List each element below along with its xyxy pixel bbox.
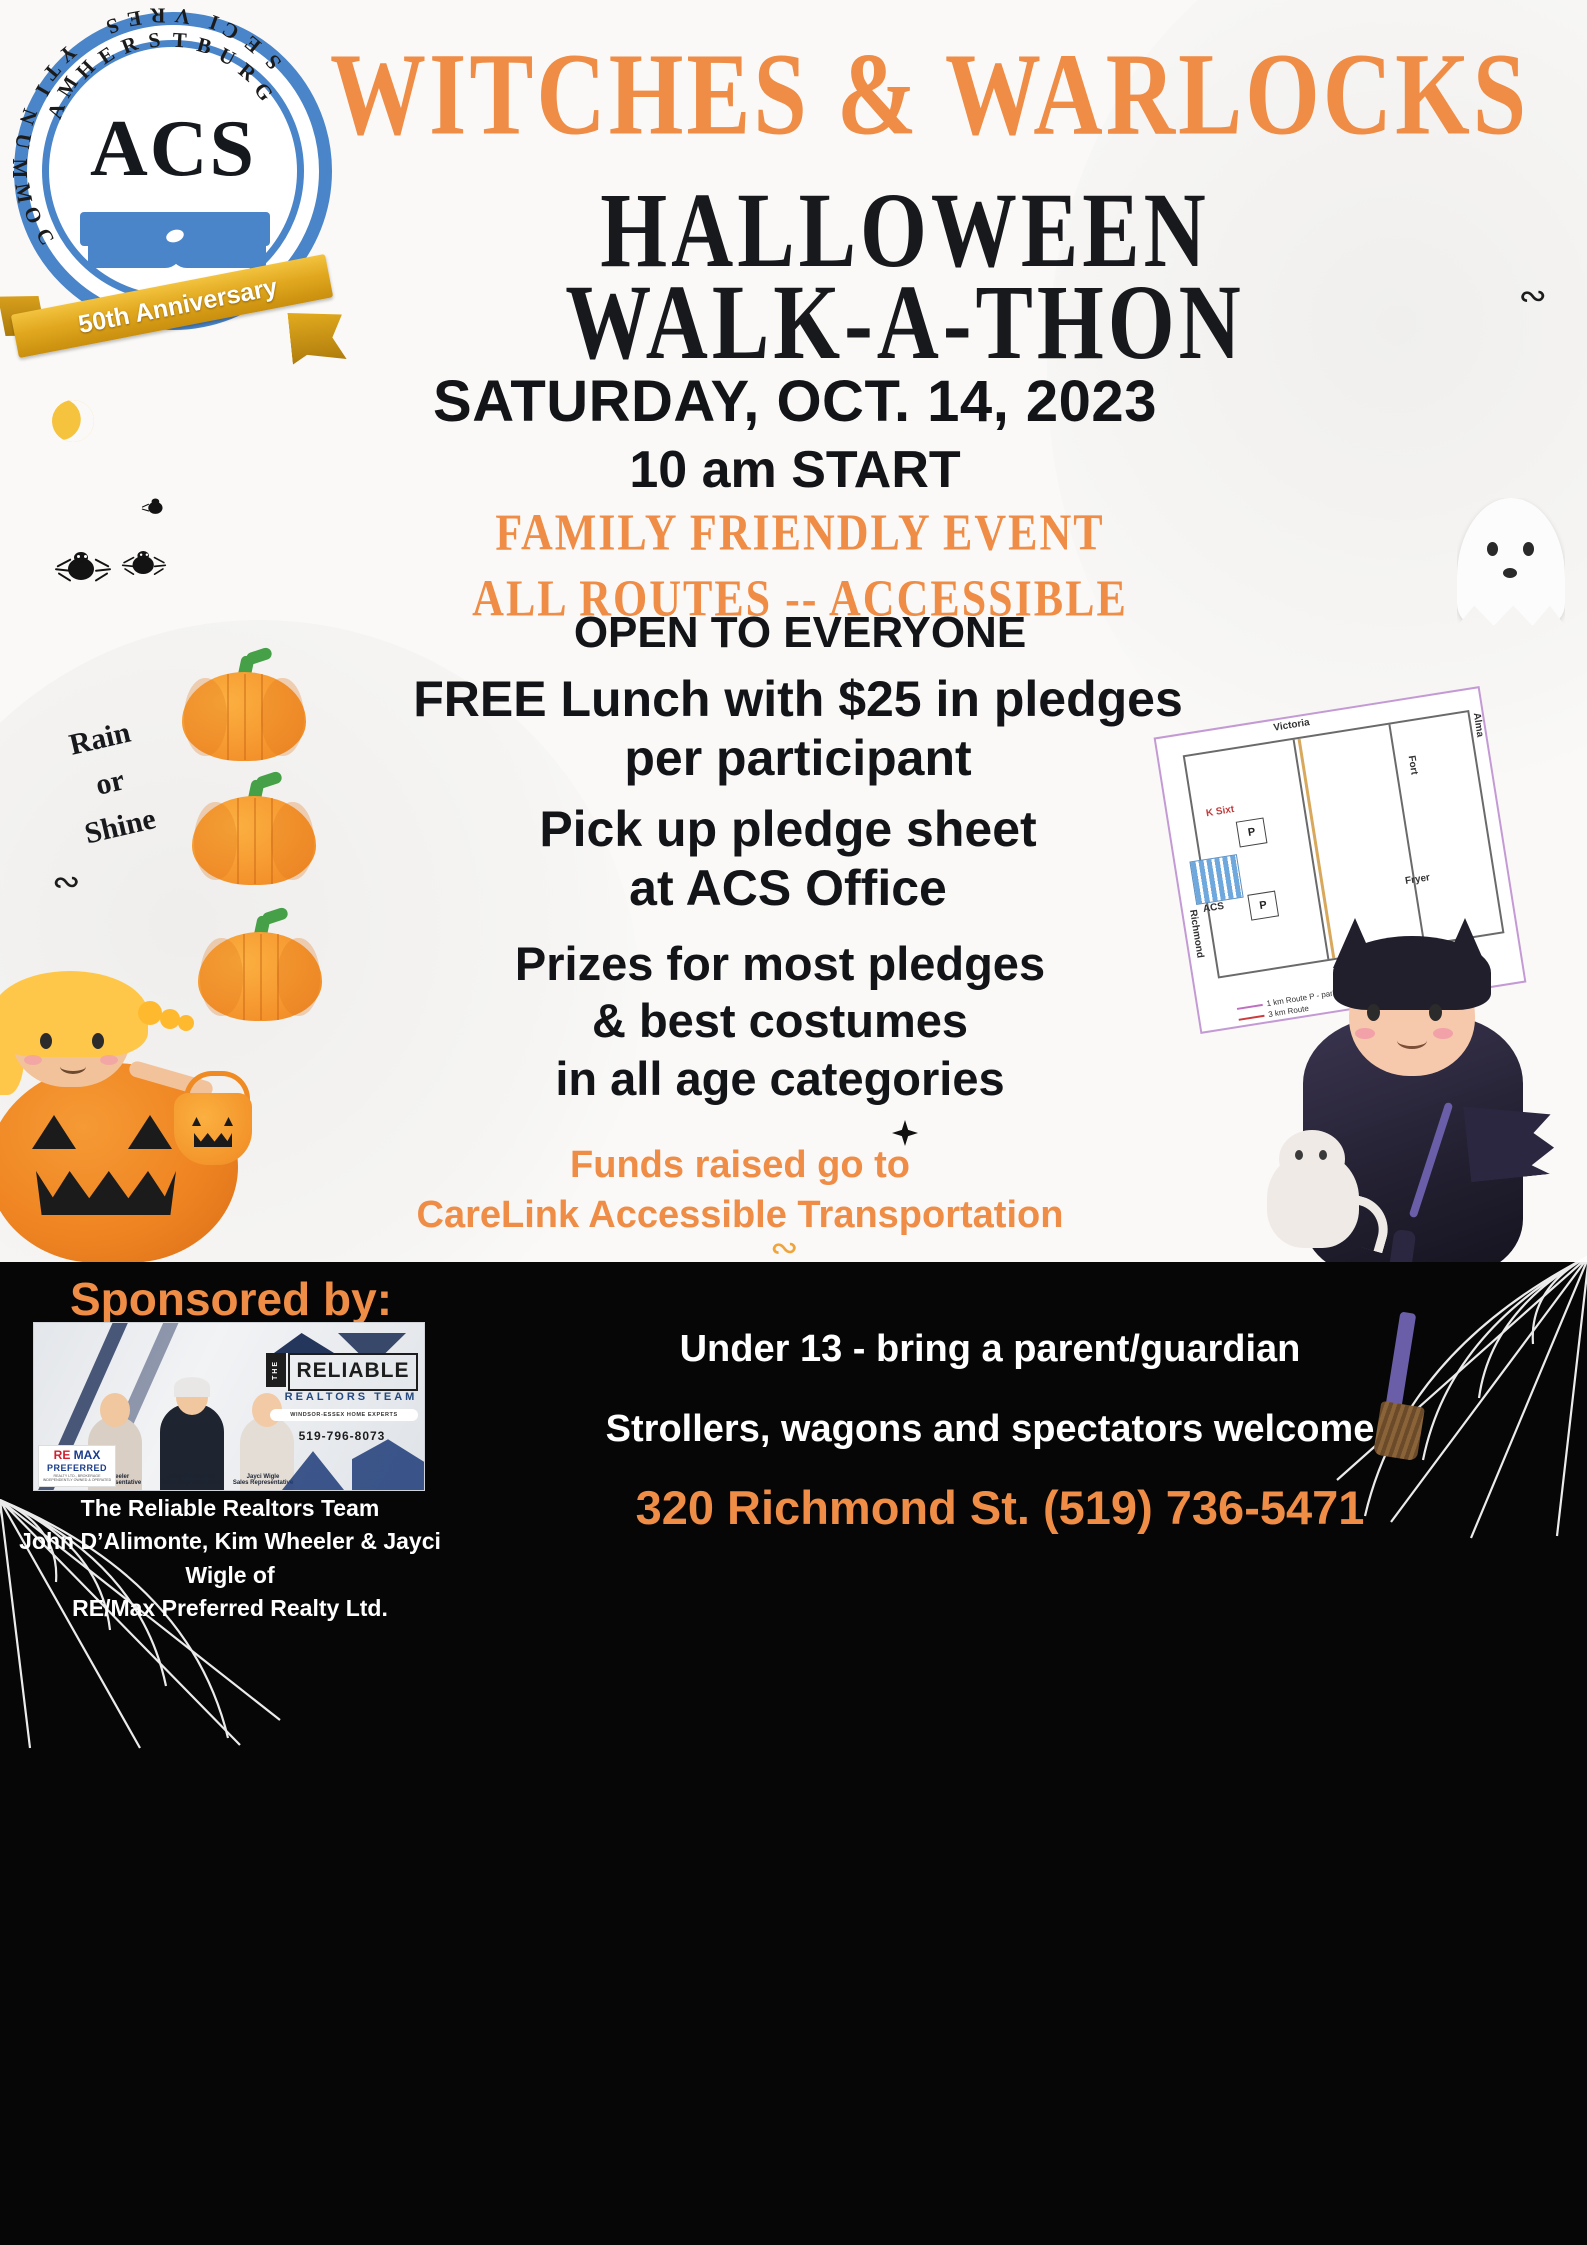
remax-sub: REALTY LTD., BROKERAGE INDEPENDENTLY OWN… bbox=[39, 1474, 115, 1482]
sponsor-person-2-hair bbox=[174, 1377, 210, 1397]
swirl-decor-1: ∾ bbox=[52, 862, 81, 902]
spider-icon-3 bbox=[144, 499, 158, 510]
bullet-3-line-1: Prizes for most pledges bbox=[280, 935, 1280, 992]
remax-logo: RE/MAX PREFERRED REALTY LTD., BROKERAGE … bbox=[38, 1445, 116, 1487]
funds-line-1: Funds raised go to bbox=[180, 1140, 1300, 1190]
bullet-3-line-2: & best costumes bbox=[280, 992, 1280, 1049]
sponsor-person-1-head bbox=[100, 1393, 130, 1427]
remax-preferred: PREFERRED bbox=[39, 1463, 115, 1473]
swirl-decor-2: ∾ bbox=[1519, 276, 1548, 316]
under-13-note: Under 13 - bring a parent/guardian bbox=[430, 1328, 1550, 1371]
logo-phone: 519-796-8073 bbox=[266, 1429, 418, 1443]
strollers-note: Strollers, wagons and spectators welcome bbox=[420, 1408, 1560, 1451]
map-parking-2: P bbox=[1247, 891, 1279, 921]
family-friendly-line: FAMILY FRIENDLY EVENT bbox=[300, 500, 1300, 566]
sponsor-caption-line-2: John D’Alimonte, Kim Wheeler & Jayci Wig… bbox=[0, 1525, 460, 1592]
sponsor-logo-card[interactable]: Kim Wheeler Sales Representative John D'… bbox=[33, 1322, 425, 1491]
bullet-1-line-1: FREE Lunch with $25 in pledges bbox=[288, 670, 1308, 729]
bullet-pledge-sheet: Pick up pledge sheet at ACS Office bbox=[288, 800, 1288, 918]
map-parking-1: P bbox=[1236, 817, 1268, 847]
event-start-time: 10 am START bbox=[290, 440, 1300, 500]
crescent-moon-icon bbox=[46, 394, 100, 448]
handshake-icon bbox=[80, 204, 270, 276]
logo-reliable-word: RELIABLE bbox=[288, 1353, 418, 1391]
funds-line-2: CareLink Accessible Transportation bbox=[180, 1190, 1300, 1240]
pumpkin-costume-kid-illustration bbox=[0, 975, 288, 1265]
spider-icon-2 bbox=[126, 551, 162, 579]
remax-re: RE bbox=[54, 1448, 71, 1462]
map-building-block bbox=[1189, 854, 1243, 905]
headline-witches-warlocks: WITCHES & WARLOCKS bbox=[330, 36, 1580, 153]
cat-illustration bbox=[1257, 1126, 1377, 1254]
poster-canvas: AMHERSTBURGCOMMUNITYSERVICES ACS 50th An… bbox=[0, 0, 1587, 2245]
bullet-3-line-3: in all age categories bbox=[280, 1050, 1280, 1107]
sponsor-caption-line-3: RE/Max Preferred Realty Ltd. bbox=[0, 1592, 460, 1625]
anniversary-ribbon: 50th Anniversary bbox=[4, 270, 340, 362]
ghost-icon bbox=[1457, 498, 1565, 626]
spider-icon-1 bbox=[60, 552, 106, 588]
open-to-everyone: OPEN TO EVERYONE bbox=[300, 608, 1300, 658]
event-date: SATURDAY, OCT. 14, 2023 bbox=[290, 368, 1300, 435]
bullet-prizes: Prizes for most pledges & best costumes … bbox=[280, 935, 1280, 1107]
logo-realtors-team: REALTORS TEAM bbox=[284, 1391, 418, 1403]
funds-note: Funds raised go to CareLink Accessible T… bbox=[180, 1140, 1300, 1240]
address-phone: 320 Richmond St. (519) 736-5471 bbox=[430, 1480, 1570, 1535]
logo-tagline: WINDSOR-ESSEX HOME EXPERTS bbox=[270, 1409, 418, 1421]
logo-acronym: ACS bbox=[6, 104, 340, 195]
sponsor-caption: The Reliable Realtors Team John D’Alimon… bbox=[0, 1492, 460, 1625]
sponsor-caption-line-1: The Reliable Realtors Team bbox=[0, 1492, 460, 1525]
sponsored-by-heading: Sponsored by: bbox=[70, 1272, 490, 1326]
remax-max: MAX bbox=[74, 1448, 101, 1462]
bullet-free-lunch: FREE Lunch with $25 in pledges per parti… bbox=[288, 670, 1308, 787]
bullet-2-line-1: Pick up pledge sheet bbox=[288, 800, 1288, 859]
sponsor-person-2-name: John D'Alimonte Sales Representative bbox=[156, 1474, 226, 1486]
logo-the-word: THE bbox=[266, 1353, 286, 1387]
headline-walk-a-thon: WALK-A-THON bbox=[330, 268, 1480, 376]
bullet-2-line-2: at ACS Office bbox=[288, 859, 1288, 918]
